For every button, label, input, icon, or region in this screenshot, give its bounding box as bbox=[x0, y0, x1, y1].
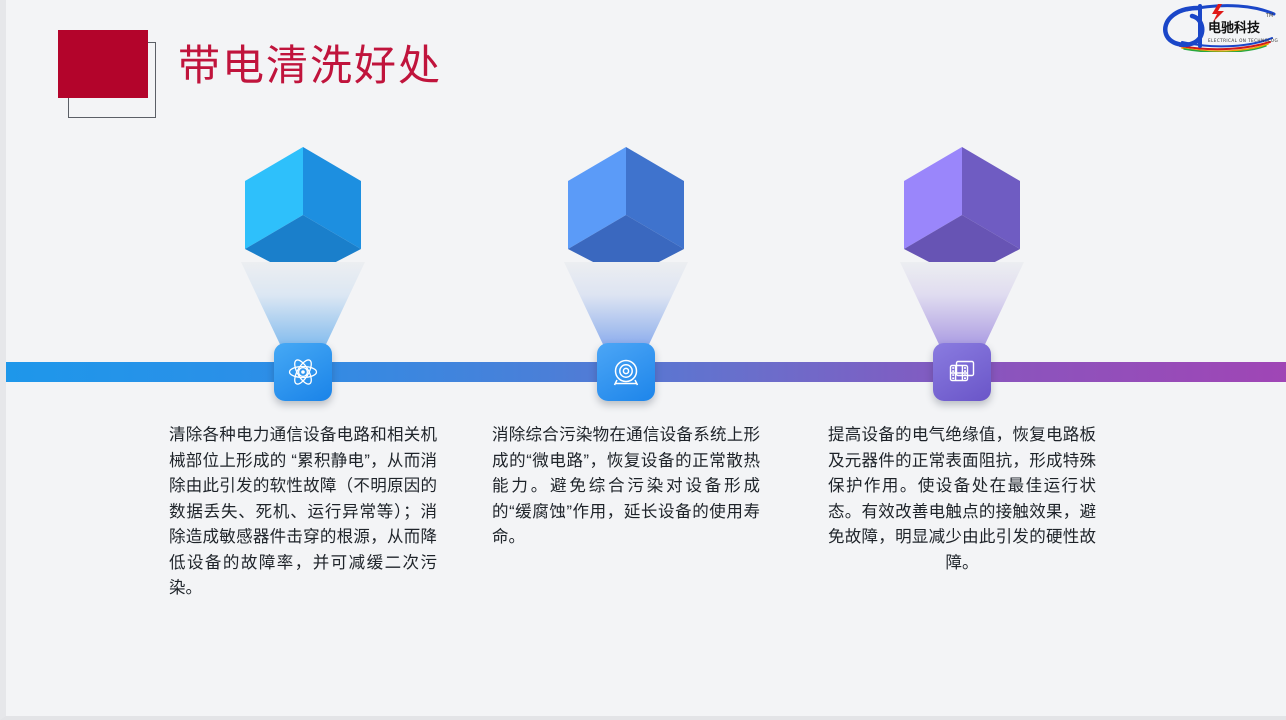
badge-target-icon[interactable] bbox=[597, 343, 655, 401]
cube-3d-icon bbox=[241, 145, 365, 281]
logo-graphic: 电驰科技 ELECTRICAL ON TECHNOLOGY TM bbox=[1156, 2, 1278, 52]
benefit-column-3: 提高设备的电气绝缘值，恢复电路板及元器件的正常表面阻抗，形成特殊保护作用。使设备… bbox=[792, 0, 1132, 720]
slide-canvas: 电驰科技 ELECTRICAL ON TECHNOLOGY TM 带电清洗好处 bbox=[0, 0, 1286, 720]
film-strip-icon bbox=[946, 356, 978, 388]
benefit-text-3: 提高设备的电气绝缘值，恢复电路板及元器件的正常表面阻抗，形成特殊保护作用。使设备… bbox=[828, 423, 1096, 576]
cube-3d-icon bbox=[564, 145, 688, 281]
svg-text:TM: TM bbox=[1265, 13, 1273, 19]
benefit-text-2: 消除综合污染物在通信设备系统上形成的“微电路”，恢复设备的正常散热能力。避免综合… bbox=[492, 423, 760, 551]
badge-atom-icon[interactable] bbox=[274, 343, 332, 401]
benefit-column-2: 消除综合污染物在通信设备系统上形成的“微电路”，恢复设备的正常散热能力。避免综合… bbox=[456, 0, 796, 720]
atom-icon bbox=[287, 356, 319, 388]
svg-text:电驰科技: 电驰科技 bbox=[1208, 20, 1261, 36]
badge-film-strip-icon[interactable] bbox=[933, 343, 991, 401]
benefit-column-1: 清除各种电力通信设备电路和相关机械部位上形成的 “累积静电”，从而消除由此引发的… bbox=[133, 0, 473, 720]
target-icon bbox=[610, 356, 642, 388]
company-logo: 电驰科技 ELECTRICAL ON TECHNOLOGY TM bbox=[1156, 2, 1278, 52]
svg-text:ELECTRICAL ON TECHNOLOGY: ELECTRICAL ON TECHNOLOGY bbox=[1208, 38, 1278, 43]
benefit-text-1: 清除各种电力通信设备电路和相关机械部位上形成的 “累积静电”，从而消除由此引发的… bbox=[169, 423, 437, 602]
cube-3d-icon bbox=[900, 145, 1024, 281]
